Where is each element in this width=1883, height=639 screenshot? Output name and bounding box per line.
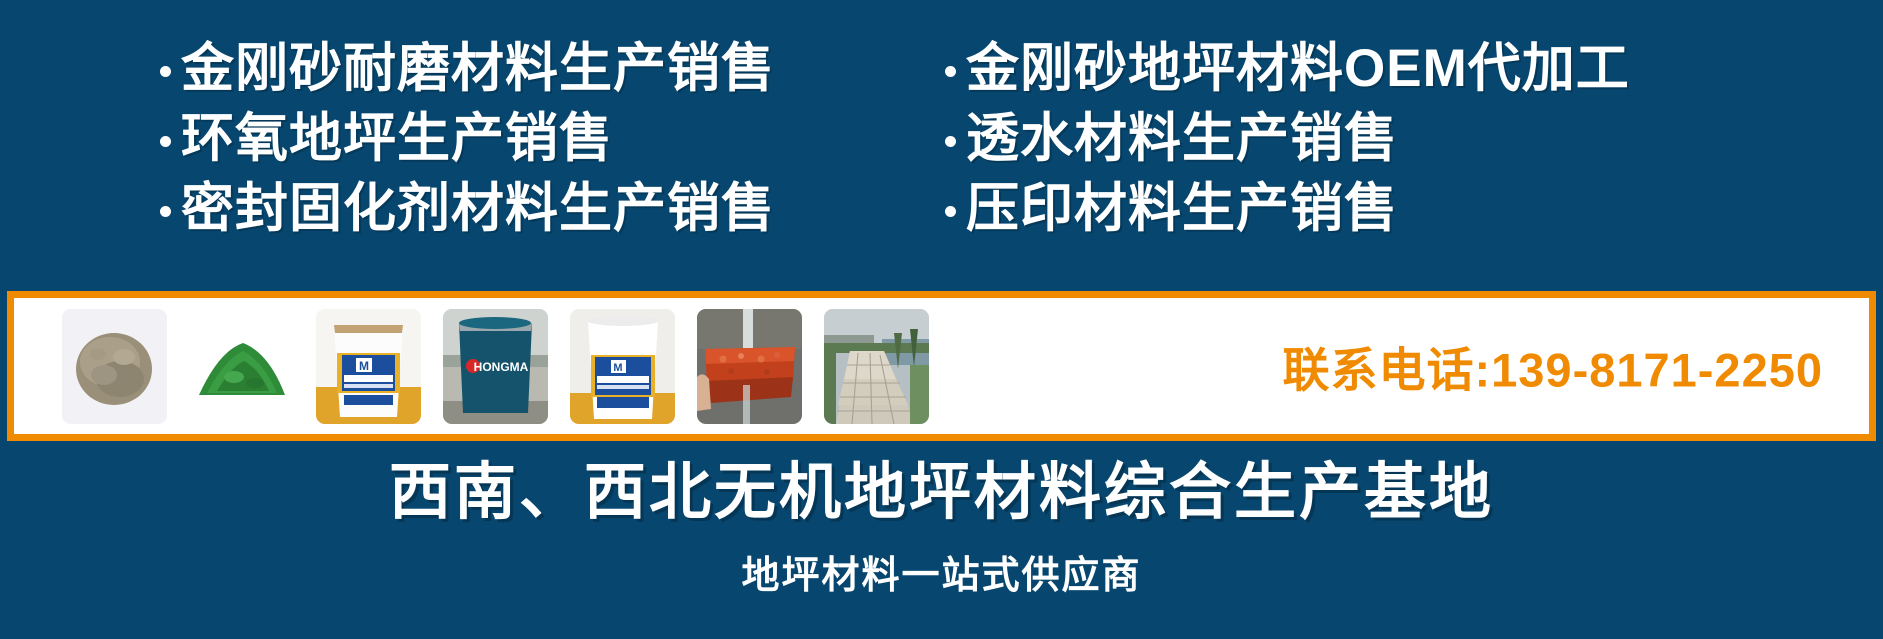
bullet-item: 环氧地坪生产销售 bbox=[160, 104, 775, 174]
sub-headline: 地坪材料一站式供应商 bbox=[0, 552, 1883, 600]
bullet-label: 金刚砂地坪材料OEM代加工 bbox=[966, 34, 1630, 104]
bullet-dot-icon bbox=[160, 206, 171, 217]
bullet-dot-icon bbox=[160, 66, 171, 77]
bullet-dot-icon bbox=[945, 66, 956, 77]
bullet-label: 压印材料生产销售 bbox=[966, 174, 1398, 244]
hongma-drum-photo: HONGMA bbox=[443, 309, 548, 424]
svg-text:HONGMA: HONGMA bbox=[474, 360, 529, 374]
bullet-item: 密封固化剂材料生产销售 bbox=[160, 174, 775, 244]
stamped-pavement-photo bbox=[824, 309, 929, 424]
svg-text:M: M bbox=[613, 362, 622, 374]
bullet-column-right: 金刚砂地坪材料OEM代加工 透水材料生产销售 压印材料生产销售 bbox=[945, 34, 1630, 244]
svg-text:M: M bbox=[359, 359, 369, 373]
contact-phone[interactable]: 联系电话:139-8171-2250 bbox=[1283, 332, 1824, 401]
product-showcase-strip: M HONGMA bbox=[7, 291, 1876, 441]
bullet-column-left: 金刚砂耐磨材料生产销售 环氧地坪生产销售 密封固化剂材料生产销售 bbox=[160, 34, 775, 244]
bullet-label: 金刚砂耐磨材料生产销售 bbox=[181, 34, 775, 104]
bullet-dot-icon bbox=[945, 136, 956, 147]
bullet-item: 透水材料生产销售 bbox=[945, 104, 1630, 174]
sealer-bucket-photo: M bbox=[316, 309, 421, 424]
bullet-label: 密封固化剂材料生产销售 bbox=[181, 174, 775, 244]
product-thumbnail-row: M HONGMA bbox=[62, 309, 929, 424]
main-headline: 西南、西北无机地坪材料综合生产基地 bbox=[0, 455, 1883, 531]
bullet-item: 金刚砂耐磨材料生产销售 bbox=[160, 34, 775, 104]
epoxy-coating-bucket-photo: M bbox=[570, 309, 675, 424]
permeable-concrete-photo bbox=[697, 309, 802, 424]
bullet-label: 透水材料生产销售 bbox=[966, 104, 1398, 174]
advertisement-banner: 金刚砂耐磨材料生产销售 环氧地坪生产销售 密封固化剂材料生产销售 金刚砂地坪材料… bbox=[0, 0, 1883, 639]
bullet-dot-icon bbox=[160, 136, 171, 147]
gray-powder-photo bbox=[62, 309, 167, 424]
service-bullet-lists: 金刚砂耐磨材料生产销售 环氧地坪生产销售 密封固化剂材料生产销售 金刚砂地坪材料… bbox=[0, 34, 1883, 262]
bullet-dot-icon bbox=[945, 206, 956, 217]
bullet-item: 压印材料生产销售 bbox=[945, 174, 1630, 244]
bullet-item: 金刚砂地坪材料OEM代加工 bbox=[945, 34, 1630, 104]
bullet-label: 环氧地坪生产销售 bbox=[181, 104, 613, 174]
green-powder-photo bbox=[189, 309, 294, 424]
